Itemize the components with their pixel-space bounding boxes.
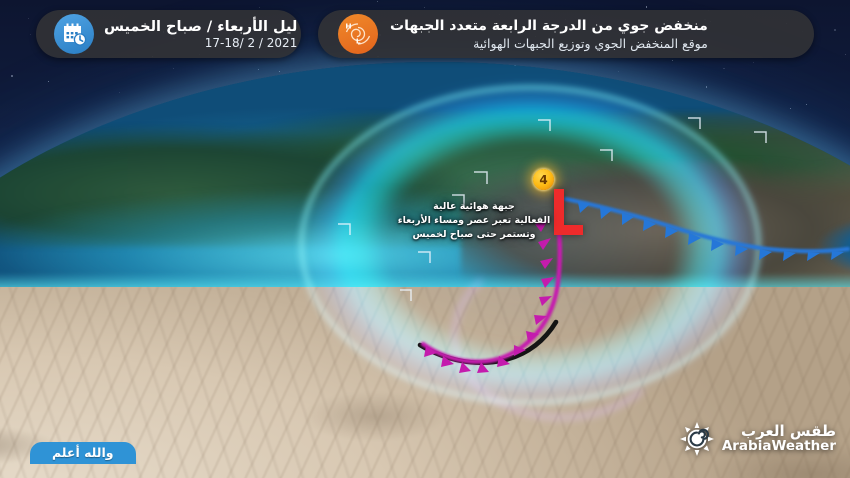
annotation-line-1: جبهة هوائية عالية xyxy=(383,200,565,214)
sun-spiral-icon xyxy=(680,422,714,456)
disclaimer-banner: والله أعلم xyxy=(30,442,136,464)
pressure-system-icon: H L xyxy=(338,14,378,54)
brand-name-english: ArabiaWeather xyxy=(722,439,836,454)
annotation-line-2: الفعالية تعبر عصر ومساء الأربعاء xyxy=(383,214,565,228)
svg-text:H: H xyxy=(345,22,351,31)
occluded-front-line xyxy=(420,322,556,363)
date-badge[interactable]: ليل الأربعاء / صباح الخميس 17-18/ 2 / 20… xyxy=(36,10,301,58)
svg-text:L: L xyxy=(356,37,361,46)
date-badge-title: ليل الأربعاء / صباح الخميس xyxy=(104,19,297,35)
page-title: منخفض جوي من الدرجة الرابعة متعدد الجبها… xyxy=(390,18,708,34)
date-badge-date: 17-18/ 2 / 2021 xyxy=(104,36,297,50)
cold-front-magenta-barbs xyxy=(424,220,554,373)
title-badge[interactable]: منخفض جوي من الدرجة الرابعة متعدد الجبها… xyxy=(318,10,814,58)
low-pressure-grade-label: 4 xyxy=(539,173,547,187)
front-annotation-text: جبهة هوائية عالية الفعالية تعبر عصر ومسا… xyxy=(383,200,565,241)
brand-name-arabic: طقس العرب xyxy=(722,424,836,440)
weather-map-screenshot: 4 جبهة هوائية عالية الفعالية تعبر عصر وم… xyxy=(0,0,850,478)
brand-logo-text: طقس العرب ArabiaWeather xyxy=(722,424,836,455)
calendar-clock-icon xyxy=(54,14,94,54)
annotation-line-3: وتستمر حتى صباح لخميس xyxy=(383,228,565,242)
page-subtitle: موقع المنخفض الجوي وتوزيع الجبهات الهوائ… xyxy=(390,36,708,51)
date-badge-text: ليل الأربعاء / صباح الخميس 17-18/ 2 / 20… xyxy=(94,19,297,50)
title-badge-text: منخفض جوي من الدرجة الرابعة متعدد الجبها… xyxy=(378,18,708,51)
brand-logo[interactable]: طقس العرب ArabiaWeather xyxy=(680,422,836,456)
cold-front-blue-line xyxy=(566,199,848,251)
low-pressure-center-marker[interactable]: 4 xyxy=(533,169,554,190)
